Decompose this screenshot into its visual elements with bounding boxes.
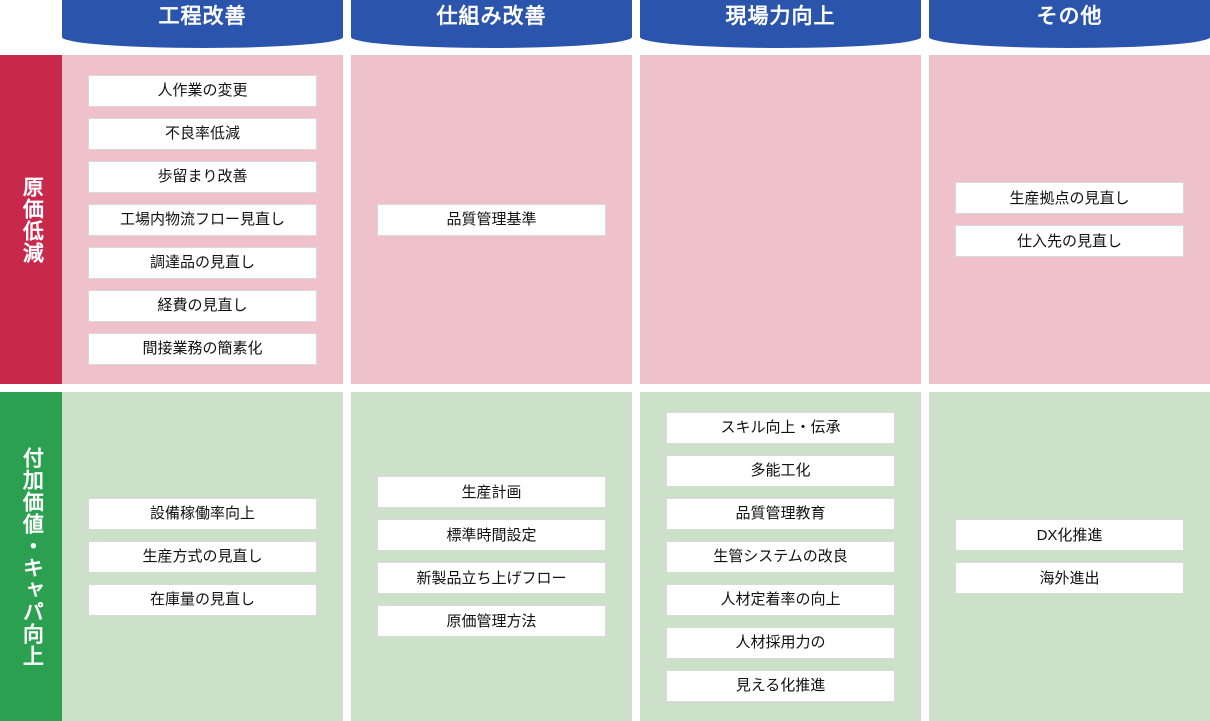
cell-cost-process: 人作業の変更不良率低減歩留まり改善工場内物流フロー見直し調達品の見直し経費の見直…: [62, 55, 343, 384]
initiative-card[interactable]: スキル向上・伝承: [666, 412, 895, 444]
initiative-card[interactable]: 設備稼働率向上: [88, 498, 317, 530]
initiative-card[interactable]: 生産方式の見直し: [88, 541, 317, 573]
cell-cost-shopfloor: [640, 55, 921, 384]
initiative-card[interactable]: 人材採用力の: [666, 627, 895, 659]
column-header-2[interactable]: 現場力向上: [640, 0, 921, 48]
initiative-card[interactable]: 生産計画: [377, 476, 606, 508]
row-cost-reduction: 原価低減 人作業の変更不良率低減歩留まり改善工場内物流フロー見直し調達品の見直し…: [0, 55, 1210, 384]
initiative-card[interactable]: 工場内物流フロー見直し: [88, 204, 317, 236]
initiative-card[interactable]: DX化推進: [955, 519, 1184, 551]
initiative-card[interactable]: 経費の見直し: [88, 290, 317, 322]
initiative-card[interactable]: 調達品の見直し: [88, 247, 317, 279]
row-label-value-capacity: 付加価値・キャパ向上: [0, 392, 62, 721]
initiative-card[interactable]: 歩留まり改善: [88, 161, 317, 193]
column-header-3[interactable]: その他: [929, 0, 1210, 48]
initiative-card[interactable]: 不良率低減: [88, 118, 317, 150]
cell-value-system: 生産計画標準時間設定新製品立ち上げフロー原価管理方法: [351, 392, 632, 721]
initiative-card[interactable]: 見える化推進: [666, 670, 895, 702]
initiative-card[interactable]: 原価管理方法: [377, 605, 606, 637]
row-cells: 設備稼働率向上生産方式の見直し在庫量の見直し 生産計画標準時間設定新製品立ち上げ…: [62, 392, 1210, 721]
initiative-card[interactable]: 品質管理基準: [377, 204, 606, 236]
initiative-card[interactable]: 人作業の変更: [88, 75, 317, 107]
initiative-card[interactable]: 間接業務の簡素化: [88, 333, 317, 365]
row-cells: 人作業の変更不良率低減歩留まり改善工場内物流フロー見直し調達品の見直し経費の見直…: [62, 55, 1210, 384]
column-header-1[interactable]: 仕組み改善: [351, 0, 632, 48]
cell-cost-system: 品質管理基準: [351, 55, 632, 384]
column-header-label: 工程改善: [159, 0, 247, 34]
cell-value-process: 設備稼働率向上生産方式の見直し在庫量の見直し: [62, 392, 343, 721]
initiative-card[interactable]: 人材定着率の向上: [666, 584, 895, 616]
initiative-card[interactable]: 標準時間設定: [377, 519, 606, 551]
row-value-capacity: 付加価値・キャパ向上 設備稼働率向上生産方式の見直し在庫量の見直し 生産計画標準…: [0, 392, 1210, 721]
column-header-0[interactable]: 工程改善: [62, 0, 343, 48]
column-header-label: 現場力向上: [726, 0, 836, 34]
initiative-card[interactable]: 在庫量の見直し: [88, 584, 317, 616]
column-header-row: 工程改善 仕組み改善 現場力向上 その他: [62, 0, 1210, 48]
cell-value-other: DX化推進海外進出: [929, 392, 1210, 721]
row-label-cost-reduction: 原価低減: [0, 55, 62, 384]
improvement-matrix: 工程改善 仕組み改善 現場力向上 その他 原価低減 人作業の変更不良率低減歩留ま…: [0, 0, 1210, 721]
column-header-label: その他: [1037, 0, 1103, 34]
initiative-card[interactable]: 海外進出: [955, 562, 1184, 594]
initiative-card[interactable]: 多能工化: [666, 455, 895, 487]
cell-value-shopfloor: スキル向上・伝承多能工化品質管理教育生管システムの改良人材定着率の向上人材採用力…: [640, 392, 921, 721]
initiative-card[interactable]: 品質管理教育: [666, 498, 895, 530]
initiative-card[interactable]: 仕入先の見直し: [955, 225, 1184, 257]
initiative-card[interactable]: 生産拠点の見直し: [955, 182, 1184, 214]
initiative-card[interactable]: 新製品立ち上げフロー: [377, 562, 606, 594]
cell-cost-other: 生産拠点の見直し仕入先の見直し: [929, 55, 1210, 384]
column-header-label: 仕組み改善: [437, 0, 547, 34]
initiative-card[interactable]: 生管システムの改良: [666, 541, 895, 573]
